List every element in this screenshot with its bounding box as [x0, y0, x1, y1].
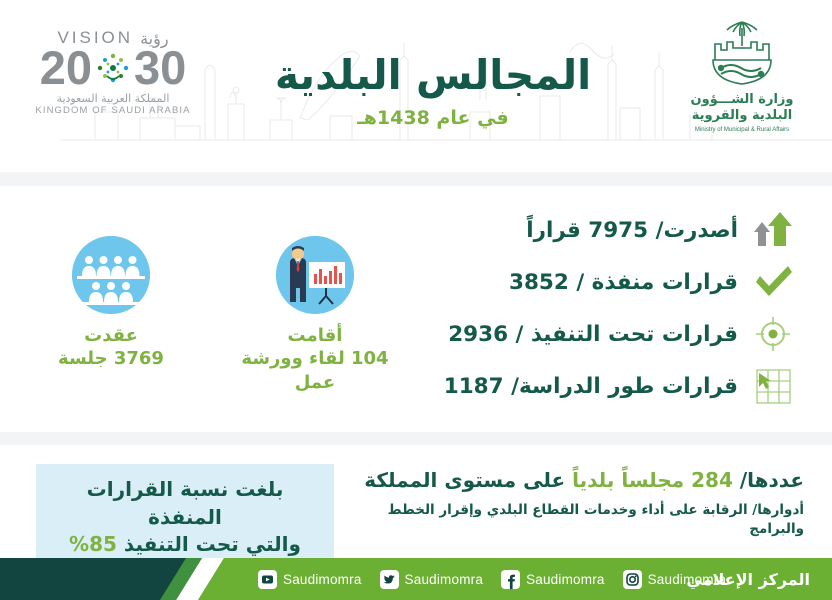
- ministry-name-en: Ministry of Municipal & Rural Affairs: [676, 127, 808, 133]
- fact-count-value: 284 مجلساً بلدياً: [572, 468, 733, 492]
- vision-year-right: 30: [134, 46, 186, 91]
- social-links-group: Saudimomra Saudimomra Saudimomra: [258, 558, 726, 600]
- stat-label: قرارات طور الدراسة/ 1187: [444, 374, 738, 399]
- highlight-box: بلغت نسبة القرارات المنفذة والتي تحت الت…: [36, 464, 334, 571]
- social-handle: Saudimomra: [526, 572, 605, 587]
- fact-roles: أدوارها/ الرقابة على أداء وخدمات القطاع …: [354, 501, 804, 539]
- stat-label: قرارات منفذة / 3852: [509, 270, 738, 295]
- social-handle: Saudimomra: [405, 572, 484, 587]
- highlight-percent: 85%: [69, 532, 117, 556]
- meeting-audience-icon: [72, 236, 150, 314]
- divider-band-middle: [0, 432, 832, 445]
- ministry-palm-swords-emblem-icon: [699, 16, 785, 88]
- footer-bar: المركز الإعلامي Saudimomra Saudimomra: [0, 558, 832, 600]
- social-handle: Saudimomra: [283, 572, 362, 587]
- instagram-icon: [623, 570, 642, 589]
- statistics-list: أصدرت/ 7975 قراراً قرارات منفذة / 3852 ق…: [428, 204, 796, 412]
- fact-count: عددها/ 284 مجلساً بلدياً على مستوى الممل…: [354, 466, 804, 494]
- stat-label: أصدرت/ 7975 قراراً: [526, 218, 738, 243]
- stat-row: أصدرت/ 7975 قراراً: [428, 204, 796, 256]
- infographic-canvas: VISION رؤية 20: [0, 0, 832, 600]
- check-mark-icon: [750, 260, 796, 304]
- stat-row: قرارات طور الدراسة/ 1187: [428, 360, 796, 412]
- badge-sessions: عقدت 3769 جلسة: [36, 236, 186, 394]
- target-crosshair-icon: [750, 312, 796, 356]
- fact-count-prefix: عددها/: [740, 468, 804, 492]
- badge-label: عقدت: [36, 324, 186, 347]
- social-link-youtube[interactable]: Saudimomra: [258, 570, 362, 589]
- facts-block: عددها/ 284 مجلساً بلدياً على مستوى الممل…: [354, 466, 804, 539]
- vision-year-left: 20: [40, 46, 92, 91]
- page-subtitle: في عام 1438هـ: [268, 107, 598, 129]
- social-link-twitter[interactable]: Saudimomra: [380, 570, 484, 589]
- social-link-facebook[interactable]: Saudimomra: [501, 570, 605, 589]
- stat-label: قرارات تحت التنفيذ / 2936: [448, 322, 738, 347]
- youtube-icon: [258, 570, 277, 589]
- stat-row: قرارات منفذة / 3852: [428, 256, 796, 308]
- badge-label: أقامت: [240, 324, 390, 347]
- social-handle: Saudimomra: [648, 572, 727, 587]
- header-section: VISION رؤية 20: [0, 0, 832, 172]
- highlight-line-2-text: والتي تحت التنفيذ: [124, 532, 301, 556]
- title-block: المجالس البلدية في عام 1438هـ: [268, 52, 598, 129]
- fact-count-suffix: على مستوى المملكة: [364, 468, 565, 492]
- grid-cursor-icon: [750, 364, 796, 408]
- badges-group: عقدت 3769 جلسة: [36, 236, 416, 394]
- bottom-section: بلغت نسبة القرارات المنفذة والتي تحت الت…: [0, 452, 832, 556]
- facebook-icon: [501, 570, 520, 589]
- badge-value: 3769 جلسة: [36, 347, 186, 370]
- ministry-logo: وزارة الشـــؤون البلدية والقروية Ministr…: [676, 16, 808, 133]
- highlight-line-1: بلغت نسبة القرارات المنفذة: [50, 476, 320, 531]
- presenter-chart-icon: [276, 236, 354, 314]
- double-arrow-up-icon: [750, 208, 796, 252]
- divider-band-top: [0, 172, 832, 186]
- page-title: المجالس البلدية: [268, 52, 598, 99]
- social-link-instagram[interactable]: Saudimomra: [623, 570, 727, 589]
- vision-2030-logo: VISION رؤية 20: [28, 28, 198, 116]
- ministry-name-line2: البلدية والقروية: [676, 108, 808, 124]
- vision-kingdom-en: KINGDOM OF SAUDI ARABIA: [28, 105, 198, 116]
- highlight-line-2: والتي تحت التنفيذ 85%: [50, 531, 320, 559]
- badge-value: 104 لقاء وورشة عمل: [240, 347, 390, 394]
- badge-workshops: أقامت 104 لقاء وورشة عمل: [240, 236, 390, 394]
- ministry-name-line1: وزارة الشـــؤون: [676, 92, 808, 108]
- twitter-icon: [380, 570, 399, 589]
- stat-row: قرارات تحت التنفيذ / 2936: [428, 308, 796, 360]
- saudi-vision-emblem-icon: [93, 46, 133, 90]
- vision-year: 20: [28, 46, 198, 91]
